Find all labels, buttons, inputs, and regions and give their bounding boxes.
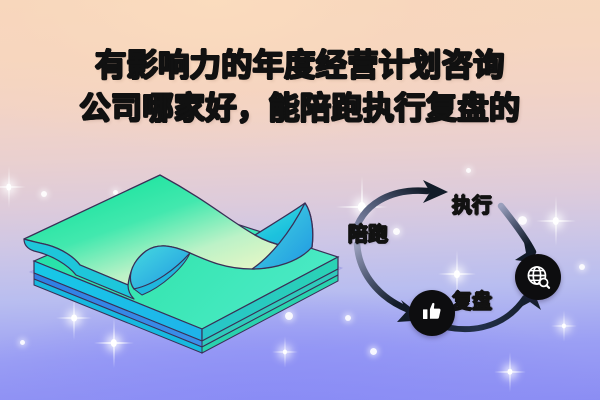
flow-label-accompany: 陪跑	[348, 225, 388, 245]
headline-line-1: 有影响力的年度经营计划咨询	[0, 44, 600, 87]
flow-node-globe-search[interactable]	[515, 254, 561, 300]
flow-label-execute: 执行	[452, 196, 492, 216]
flow-node-thumbs-up[interactable]	[409, 290, 455, 336]
headline-line-2: 公司哪家好，能陪跑执行复盘的	[0, 87, 600, 130]
banner-canvas: 有影响力的年度经营计划咨询 公司哪家好，能陪跑执行复盘的	[0, 0, 600, 400]
thumbs-up-icon	[419, 300, 445, 326]
layered-sheets-illustration	[12, 165, 352, 360]
flow-label-review: 复盘	[452, 292, 492, 312]
headline: 有影响力的年度经营计划咨询 公司哪家好，能陪跑执行复盘的	[0, 44, 600, 130]
flow-diagram: 陪跑 执行 复盘	[335, 170, 600, 360]
globe-search-icon	[525, 264, 552, 291]
